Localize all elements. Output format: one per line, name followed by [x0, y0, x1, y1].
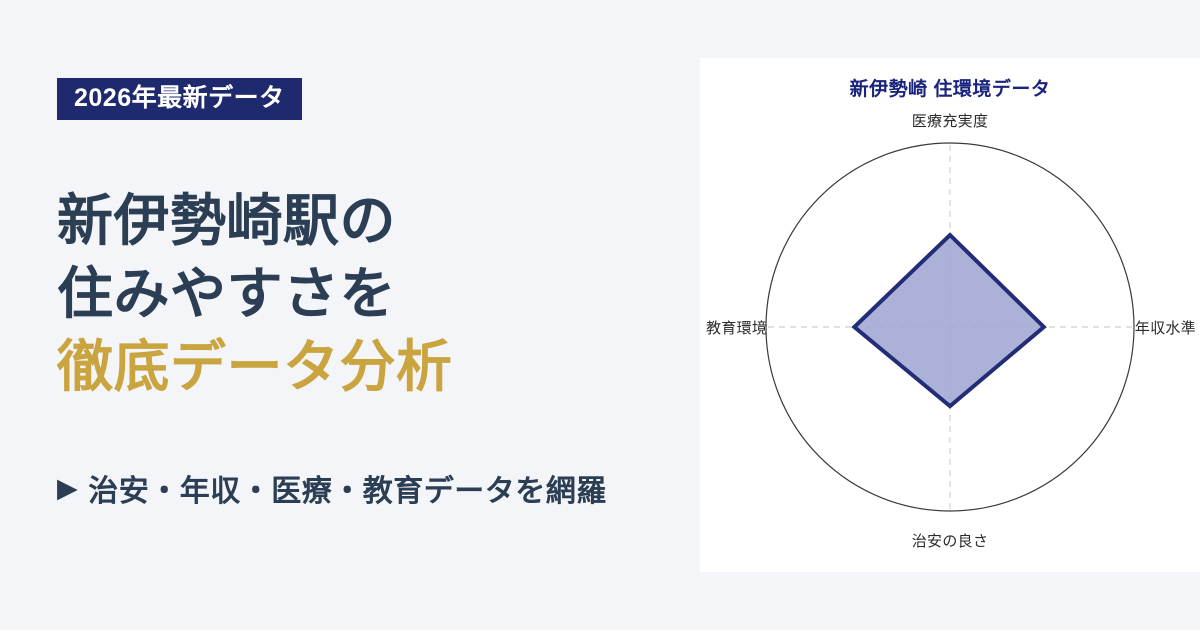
headline-line-3: 徹底データ分析 — [57, 331, 677, 404]
radar-axis-label-1: 年収水準 — [1135, 317, 1196, 338]
radar-axis-label-0: 医療充実度 — [912, 110, 989, 131]
subtitle-text: 治安・年収・医療・教育データを網羅 — [88, 466, 607, 510]
radar-axis-label-3: 教育環境 — [706, 317, 767, 338]
subtitle: ▶ 治安・年収・医療・教育データを網羅 — [57, 466, 607, 510]
radar-axis-label-2: 治安の良さ — [912, 530, 989, 551]
hero-left-panel: 2026年最新データ 新伊勢崎駅の 住みやすさを 徹底データ分析 ▶ 治安・年収… — [0, 0, 700, 630]
headline-line-1: 新伊勢崎駅の — [57, 185, 677, 258]
triangle-right-icon: ▶ — [57, 475, 78, 502]
radar-chart-svg — [700, 58, 1200, 572]
page-title: 新伊勢崎駅の 住みやすさを 徹底データ分析 — [57, 185, 677, 403]
radar-data-polygon — [854, 235, 1044, 406]
year-badge: 2026年最新データ — [57, 78, 302, 120]
headline-line-2: 住みやすさを — [57, 258, 677, 331]
radar-chart-panel: 新伊勢崎 住環境データ 医療充実度 年収水準 治安の良さ 教育環境 — [700, 58, 1200, 572]
